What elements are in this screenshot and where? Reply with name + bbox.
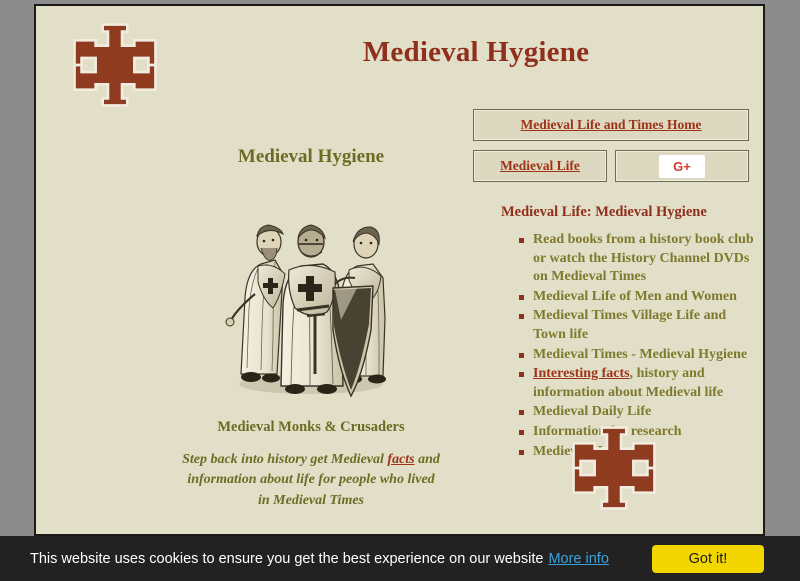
left-column: Medieval Hygiene: [156, 146, 466, 511]
cookie-consent-banner: This website uses cookies to ensure you …: [0, 536, 800, 581]
cookie-more-info-link[interactable]: More info: [548, 551, 608, 567]
nav-medieval-life-button[interactable]: Medieval Life: [473, 150, 607, 182]
nav-secondary-row: Medieval Life G+: [473, 150, 755, 182]
list-item-text: Medieval Life of Men and Women: [533, 289, 737, 304]
medieval-monks-crusaders-illustration: [211, 178, 411, 403]
crusader-cross-icon: [570, 424, 658, 512]
nav-medieval-life-and-times-home-button[interactable]: Medieval Life and Times Home: [473, 109, 749, 141]
list-item-text: Read books from a history book club or w…: [533, 232, 754, 284]
list-item: Medieval Times - Medieval Hygiene: [533, 346, 755, 365]
page-content-area: Medieval Hygiene Medieval Hygiene: [34, 4, 765, 536]
cookie-message: This website uses cookies to ensure you …: [30, 551, 543, 567]
google-plus-share-button[interactable]: G+: [615, 150, 749, 182]
image-caption: Medieval Monks & Crusaders: [156, 419, 466, 436]
list-item: Medieval Times Village Life and Town lif…: [533, 307, 755, 344]
list-item: Medieval Daily Life: [533, 403, 755, 422]
list-item-text: Medieval Times Village Life and Town lif…: [533, 308, 726, 342]
list-item: Medieval Life of Men and Women: [533, 288, 755, 307]
list-item: Read books from a history book club or w…: [533, 231, 755, 287]
section-heading: Medieval Hygiene: [156, 146, 466, 168]
crusader-cross-icon: [71, 21, 159, 109]
breadcrumb: Medieval Life: Medieval Hygiene: [501, 204, 755, 221]
nav-home-label: Medieval Life and Times Home: [521, 117, 702, 133]
list-item-text: Medieval Daily Life: [533, 404, 651, 419]
page-title: Medieval Hygiene: [196, 36, 756, 69]
tagline-before: Step back into history get Medieval: [182, 452, 387, 467]
tagline-facts-link[interactable]: facts: [387, 452, 414, 467]
right-column: Medieval Life and Times Home Medieval Li…: [473, 109, 755, 462]
tagline-text: Step back into history get Medieval fact…: [156, 450, 466, 511]
interesting-facts-link[interactable]: Interesting facts: [533, 366, 630, 381]
list-item: Interesting facts, history and informati…: [533, 365, 755, 402]
list-item-text: Medieval Times - Medieval Hygiene: [533, 347, 747, 362]
cookie-accept-button[interactable]: Got it!: [652, 545, 764, 573]
google-plus-icon: G+: [659, 155, 705, 178]
nav-medieval-life-label: Medieval Life: [500, 158, 580, 174]
